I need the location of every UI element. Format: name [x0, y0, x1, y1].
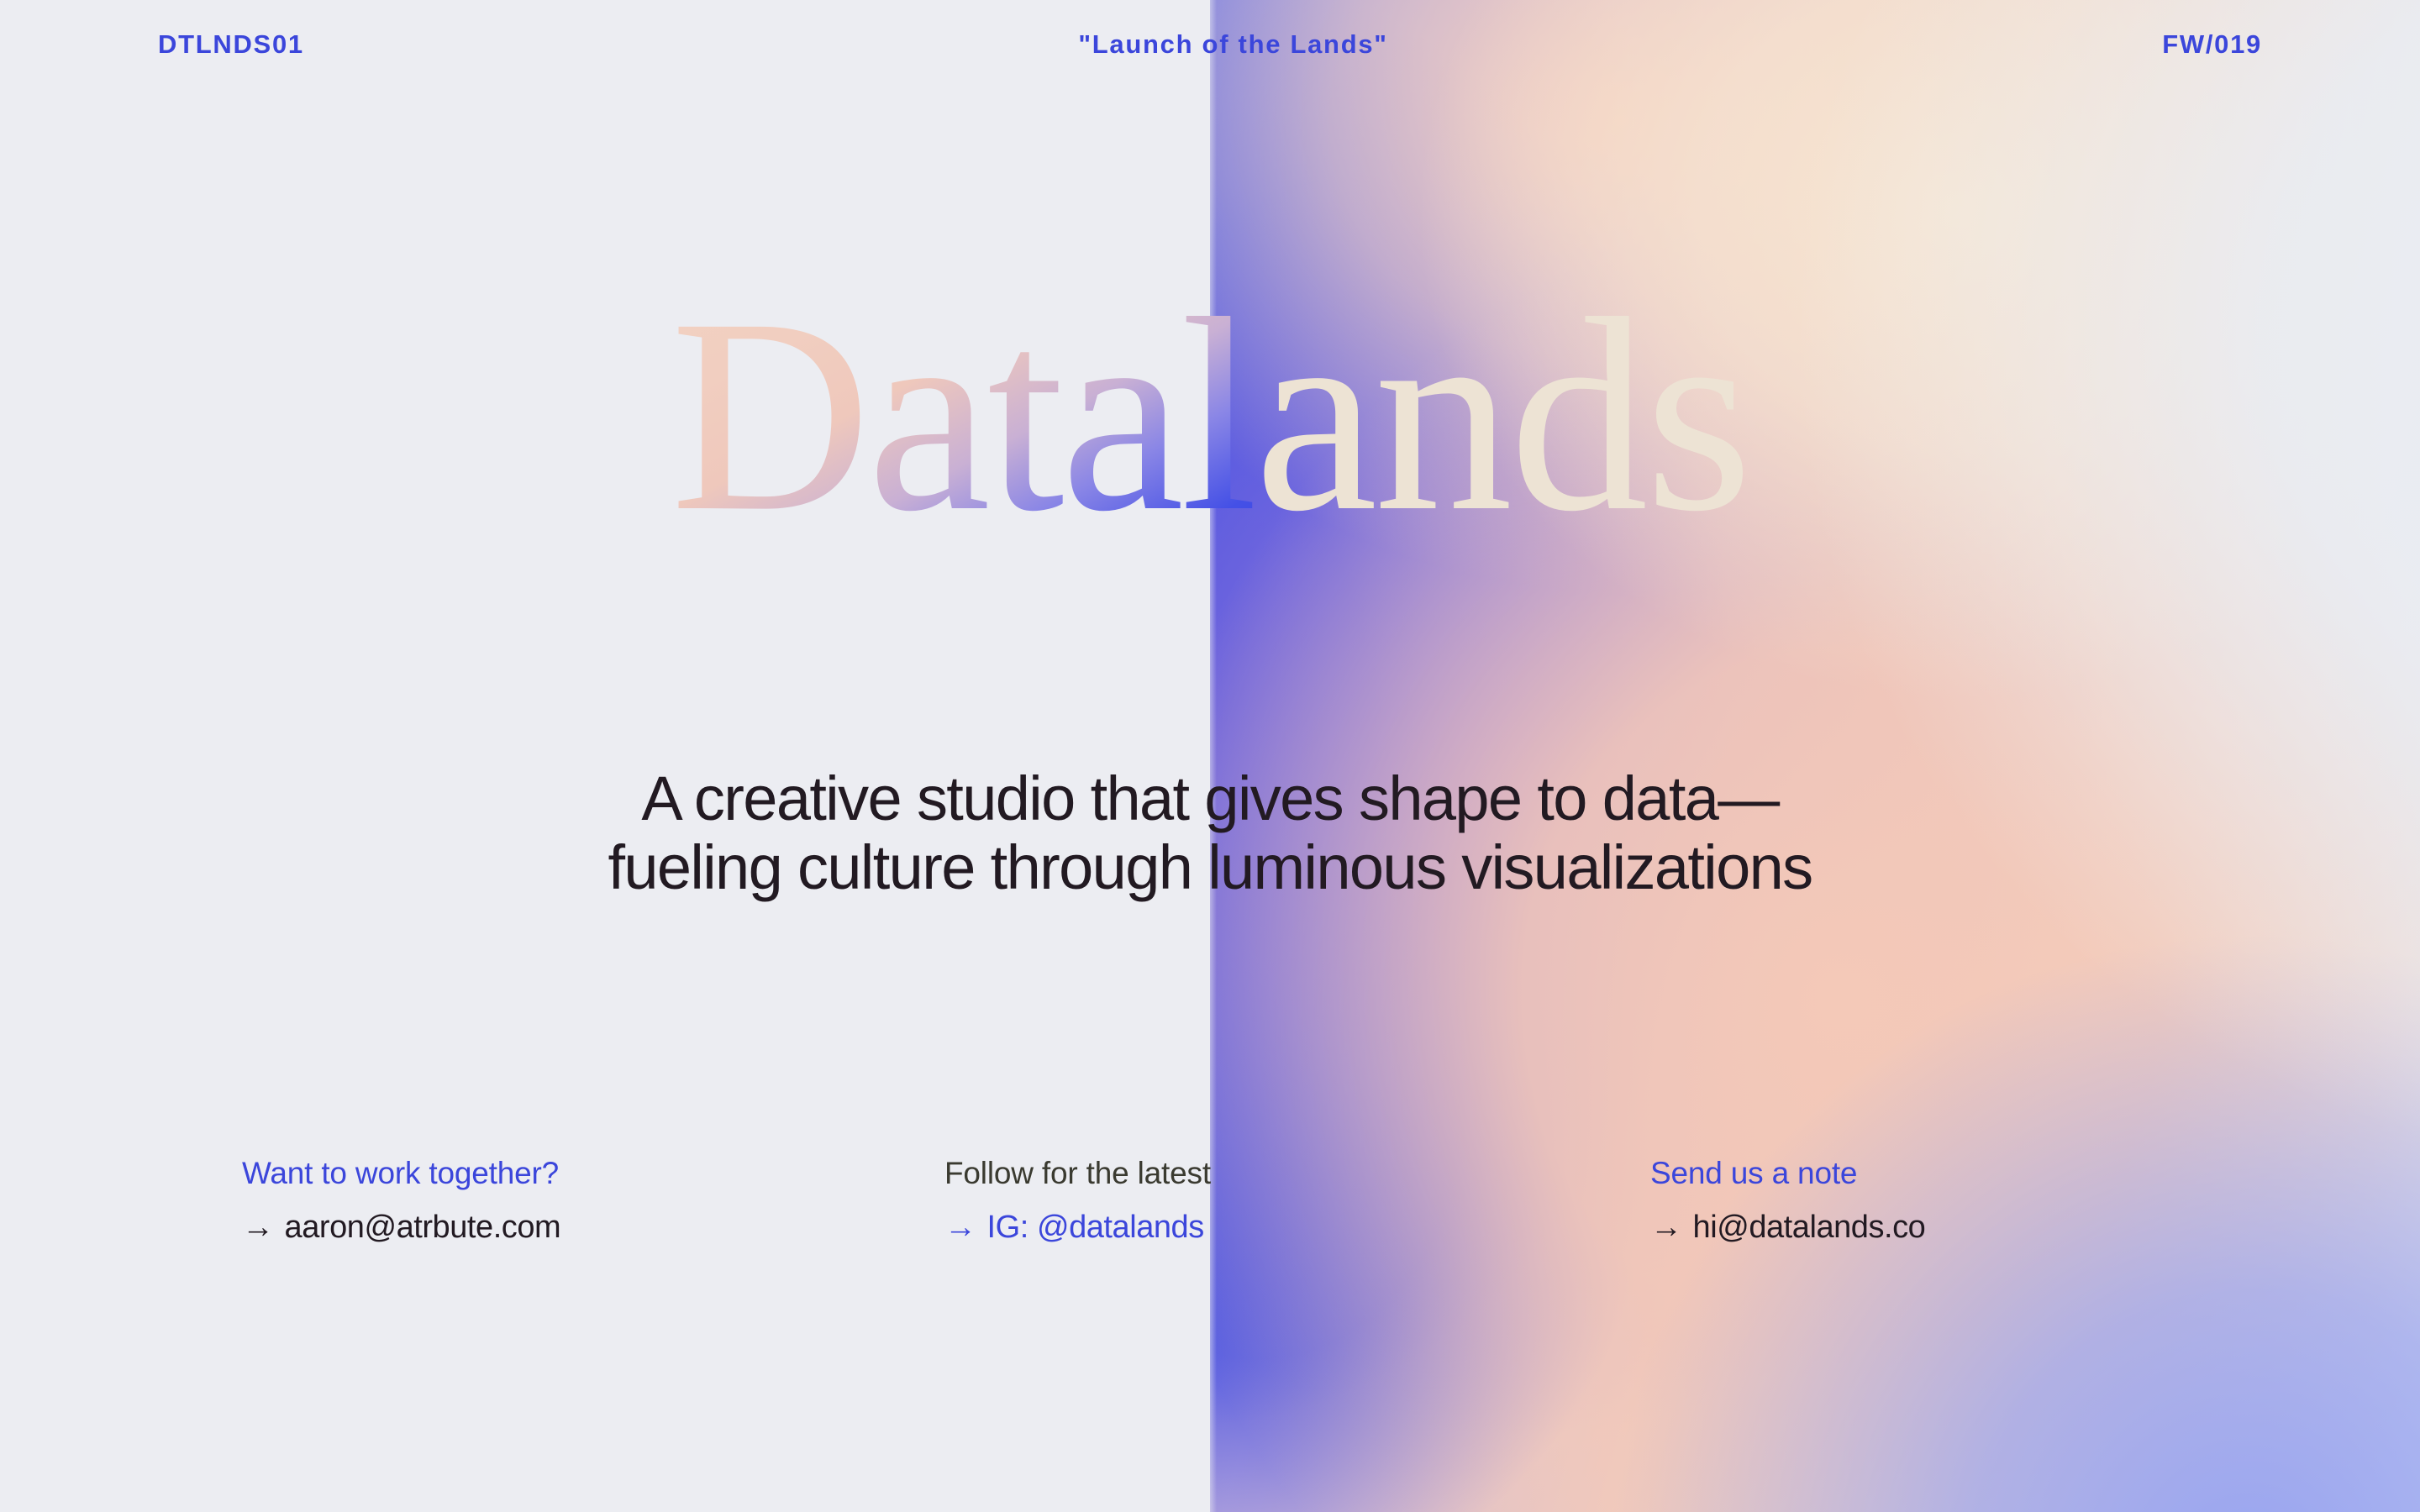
background-right-mesh-gradient: [1210, 0, 2420, 1512]
footer-column-note: Send us a note →hi@datalands.co: [1650, 1155, 1925, 1246]
footer-label-work-together: Want to work together?: [242, 1155, 560, 1192]
footer-link-email-aaron[interactable]: →aaron@atrbute.com: [242, 1209, 560, 1247]
poster-header: DTLNDS01 "Launch of the Lands" FW/019: [0, 0, 2420, 88]
footer-link-email-aaron-label: aaron@atrbute.com: [285, 1210, 561, 1245]
footer-link-email-hi[interactable]: →hi@datalands.co: [1650, 1209, 1925, 1247]
poster-footer: Want to work together? →aaron@atrbute.co…: [0, 1155, 2420, 1256]
footer-link-email-hi-label: hi@datalands.co: [1693, 1210, 1926, 1245]
footer-label-follow: Follow for the latest: [944, 1155, 1211, 1192]
footer-column-social: Follow for the latest →IG: @datalands: [944, 1155, 1211, 1246]
wordmark-gradient-segment: Datal: [671, 262, 1255, 569]
poster-canvas: DTLNDS01 "Launch of the Lands" FW/019 Da…: [0, 0, 2420, 1512]
footer-label-send-note: Send us a note: [1650, 1155, 1925, 1192]
wordmark-cream-segment: ands: [1255, 262, 1749, 569]
footer-column-contact: Want to work together? →aaron@atrbute.co…: [242, 1155, 560, 1246]
arrow-right-icon: →: [242, 1210, 274, 1245]
tagline-line-1: A creative studio that gives shape to da…: [0, 764, 2420, 833]
arrow-right-icon: →: [1650, 1210, 1682, 1245]
studio-tagline: A creative studio that gives shape to da…: [0, 764, 2420, 902]
header-season-code: FW/019: [2162, 29, 2262, 60]
background-left-flat: [0, 0, 1210, 1512]
tagline-line-2: fueling culture through luminous visuali…: [0, 833, 2420, 902]
header-project-code: DTLNDS01: [158, 29, 304, 60]
background-seam-blend: [1203, 0, 1217, 1512]
header-campaign-title: "Launch of the Lands": [304, 29, 2162, 60]
footer-link-instagram-label: IG: @datalands: [987, 1210, 1204, 1245]
brand-wordmark: Datalands: [0, 277, 2420, 554]
footer-link-instagram[interactable]: →IG: @datalands: [944, 1209, 1211, 1247]
arrow-right-icon: →: [944, 1210, 976, 1245]
